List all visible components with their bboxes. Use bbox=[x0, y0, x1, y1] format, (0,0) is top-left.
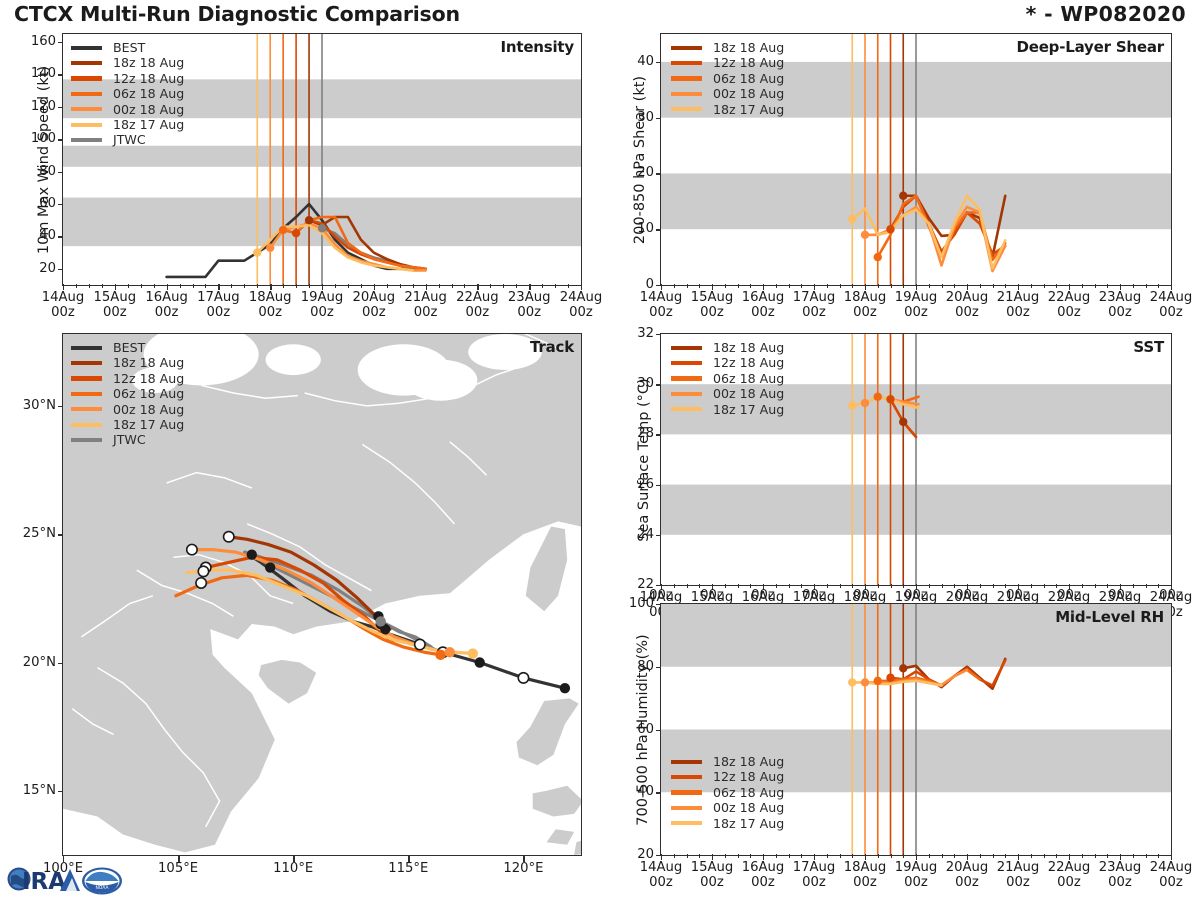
x-minor-tick bbox=[878, 584, 879, 588]
legend-label: 18z 17 Aug bbox=[113, 117, 184, 132]
x-minor-tick bbox=[776, 584, 777, 588]
x-minor-tick bbox=[801, 584, 802, 588]
x-minor-tick bbox=[954, 584, 955, 588]
legend-color-swatch bbox=[671, 376, 702, 380]
x-minor-tick bbox=[1146, 584, 1147, 588]
legend-label: 06z 18 Aug bbox=[113, 386, 184, 401]
legend-item: 00z 18 Aug bbox=[71, 402, 184, 417]
x-tick-mark bbox=[763, 284, 764, 290]
y-tick-label: 24 bbox=[612, 527, 654, 542]
track-marker-open bbox=[198, 566, 208, 576]
legend-color-swatch bbox=[71, 123, 102, 127]
x-minor-tick bbox=[725, 284, 726, 288]
legend-label: 00z 18 Aug bbox=[713, 800, 784, 815]
series-init-marker bbox=[848, 215, 856, 223]
panel-track[interactable]: Track BEST18z 18 Aug12z 18 Aug06z 18 Aug… bbox=[62, 333, 582, 856]
panel-rh[interactable]: Mid-Level RH 18z 18 Aug12z 18 Aug06z 18 … bbox=[660, 603, 1172, 856]
y-tick-mark bbox=[656, 604, 661, 605]
legend-label: 18z 18 Aug bbox=[713, 340, 784, 355]
x-minor-tick bbox=[776, 854, 777, 858]
legend-item: JTWC bbox=[71, 432, 184, 447]
legend-item: 12z 18 Aug bbox=[71, 71, 184, 86]
legend-item: 18z 18 Aug bbox=[671, 754, 784, 769]
legend-item: 06z 18 Aug bbox=[71, 386, 184, 401]
x-tick-mark bbox=[1018, 854, 1019, 860]
rh-legend: 18z 18 Aug12z 18 Aug06z 18 Aug00z 18 Aug… bbox=[671, 754, 784, 831]
x-minor-tick bbox=[840, 854, 841, 858]
cira-logo: IRA NOAA bbox=[4, 856, 126, 898]
x-minor-tick bbox=[1107, 284, 1108, 288]
legend-item: 18z 17 Aug bbox=[671, 102, 784, 117]
y-tick-label: 20 bbox=[612, 165, 654, 180]
x-tick-mark bbox=[1171, 284, 1172, 290]
x-minor-tick bbox=[1095, 284, 1096, 288]
legend-color-swatch bbox=[71, 107, 102, 111]
x-minor-tick bbox=[1158, 284, 1159, 288]
x-minor-tick bbox=[929, 854, 930, 858]
x-minor-tick bbox=[687, 284, 688, 288]
map-lon-label: 115°E bbox=[374, 861, 442, 876]
series-init-marker bbox=[886, 674, 894, 682]
figure-header: CTCX Multi-Run Diagnostic Comparison * -… bbox=[0, 2, 1200, 30]
x-tick-hour-label: 00z bbox=[945, 588, 989, 603]
x-tick-hour-label: 00z bbox=[741, 588, 785, 603]
x-tick-label: 24Aug00z bbox=[1139, 860, 1200, 890]
x-tick-hour-label: 00z bbox=[690, 588, 734, 603]
x-minor-tick bbox=[400, 284, 401, 288]
x-tick-mark bbox=[814, 854, 815, 860]
x-minor-tick bbox=[789, 284, 790, 288]
shear-legend: 18z 18 Aug12z 18 Aug06z 18 Aug00z 18 Aug… bbox=[671, 40, 784, 117]
x-tick-mark bbox=[1069, 854, 1070, 860]
series-init-marker bbox=[861, 231, 869, 239]
x-tick-mark bbox=[322, 284, 323, 290]
legend-label: 18z 17 Aug bbox=[113, 417, 184, 432]
x-minor-tick bbox=[180, 284, 181, 288]
y-tick-mark bbox=[656, 384, 661, 385]
x-minor-tick bbox=[687, 584, 688, 588]
map-lon-label: 120°E bbox=[489, 861, 557, 876]
map-lon-tick bbox=[293, 856, 294, 862]
x-minor-tick bbox=[980, 584, 981, 588]
series-init-marker bbox=[874, 393, 882, 401]
x-tick-label: 24Aug00z bbox=[1139, 290, 1200, 320]
map-lat-tick bbox=[58, 663, 63, 664]
x-minor-tick bbox=[840, 584, 841, 588]
x-minor-tick bbox=[1005, 584, 1006, 588]
y-tick-label: 40 bbox=[14, 228, 56, 243]
x-minor-tick bbox=[542, 284, 543, 288]
legend-item: 18z 18 Aug bbox=[71, 355, 184, 370]
x-tick-mark bbox=[115, 284, 116, 290]
x-minor-tick bbox=[102, 284, 103, 288]
x-minor-tick bbox=[387, 284, 388, 288]
x-minor-tick bbox=[852, 854, 853, 858]
x-minor-tick bbox=[699, 854, 700, 858]
x-minor-tick bbox=[942, 854, 943, 858]
x-tick-mark bbox=[477, 284, 478, 290]
x-minor-tick bbox=[878, 854, 879, 858]
x-minor-tick bbox=[464, 284, 465, 288]
map-lat-label: 25°N bbox=[0, 526, 56, 541]
track-panel-title: Track bbox=[530, 338, 574, 356]
x-minor-tick bbox=[725, 584, 726, 588]
x-minor-tick bbox=[1082, 284, 1083, 288]
y-tick-label: 20 bbox=[14, 261, 56, 276]
x-tick-mark bbox=[1171, 854, 1172, 860]
x-tick-mark bbox=[916, 284, 917, 290]
x-tick-mark bbox=[63, 284, 64, 290]
legend-label: 06z 18 Aug bbox=[713, 71, 784, 86]
y-tick-label: 60 bbox=[612, 722, 654, 737]
x-minor-tick bbox=[827, 854, 828, 858]
x-minor-tick bbox=[1146, 284, 1147, 288]
track-marker-open bbox=[224, 532, 234, 542]
x-tick-hour-label: 00z bbox=[894, 588, 938, 603]
y-tick-mark bbox=[58, 74, 63, 75]
legend-item: 12z 18 Aug bbox=[671, 55, 784, 70]
x-minor-tick bbox=[244, 284, 245, 288]
intensity-legend: BEST18z 18 Aug12z 18 Aug06z 18 Aug00z 18… bbox=[71, 40, 184, 148]
panel-shear[interactable]: Deep-Layer Shear 18z 18 Aug12z 18 Aug06z… bbox=[660, 33, 1172, 286]
y-tick-label: 40 bbox=[612, 784, 654, 799]
sst-legend: 18z 18 Aug12z 18 Aug06z 18 Aug00z 18 Aug… bbox=[671, 340, 784, 417]
x-minor-tick bbox=[231, 284, 232, 288]
track-marker-filled bbox=[265, 562, 275, 572]
x-minor-tick bbox=[89, 284, 90, 288]
y-tick-label: 30 bbox=[612, 376, 654, 391]
x-tick-hour-label: 00z bbox=[1149, 588, 1193, 603]
y-tick-mark bbox=[656, 62, 661, 63]
x-tick-mark bbox=[967, 854, 968, 860]
x-tick-mark bbox=[712, 284, 713, 290]
legend-item: 18z 17 Aug bbox=[71, 417, 184, 432]
map-lake bbox=[404, 360, 478, 401]
y-tick-label: 60 bbox=[14, 196, 56, 211]
track-marker-open bbox=[187, 544, 197, 554]
legend-label: 18z 18 Aug bbox=[113, 55, 184, 70]
legend-color-swatch bbox=[71, 392, 102, 396]
legend-color-swatch bbox=[671, 46, 702, 50]
legend-item: 12z 18 Aug bbox=[671, 355, 784, 370]
x-minor-tick bbox=[878, 284, 879, 288]
track-legend: BEST18z 18 Aug12z 18 Aug06z 18 Aug00z 18… bbox=[71, 340, 184, 448]
legend-color-swatch bbox=[671, 760, 702, 764]
panel-sst[interactable]: SST 18z 18 Aug12z 18 Aug06z 18 Aug00z 18… bbox=[660, 333, 1172, 586]
legend-label: 18z 17 Aug bbox=[713, 816, 784, 831]
track-marker-filled bbox=[247, 550, 257, 560]
x-minor-tick bbox=[1056, 584, 1057, 588]
x-tick-mark bbox=[1069, 284, 1070, 290]
x-minor-tick bbox=[1133, 584, 1134, 588]
x-minor-tick bbox=[1133, 854, 1134, 858]
legend-label: 12z 18 Aug bbox=[713, 55, 784, 70]
legend-label: 12z 18 Aug bbox=[113, 71, 184, 86]
legend-color-swatch bbox=[71, 376, 102, 380]
x-minor-tick bbox=[687, 854, 688, 858]
x-minor-tick bbox=[827, 284, 828, 288]
legend-item: BEST bbox=[71, 340, 184, 355]
x-minor-tick bbox=[750, 854, 751, 858]
x-minor-tick bbox=[1146, 854, 1147, 858]
x-tick-mark bbox=[661, 284, 662, 290]
legend-label: 00z 18 Aug bbox=[113, 402, 184, 417]
y-tick-mark bbox=[656, 535, 661, 536]
x-tick-hour-label: 00z bbox=[1047, 588, 1091, 603]
x-minor-tick bbox=[141, 284, 142, 288]
x-tick-mark bbox=[865, 854, 866, 860]
y-tick-label: 80 bbox=[612, 659, 654, 674]
x-tick-mark bbox=[661, 854, 662, 860]
legend-color-swatch bbox=[71, 138, 102, 142]
x-tick-mark bbox=[1018, 284, 1019, 290]
legend-color-swatch bbox=[71, 92, 102, 96]
x-minor-tick bbox=[257, 284, 258, 288]
legend-label: 18z 18 Aug bbox=[713, 40, 784, 55]
x-minor-tick bbox=[929, 284, 930, 288]
map-lat-tick bbox=[58, 406, 63, 407]
series-init-marker bbox=[279, 226, 287, 234]
x-minor-tick bbox=[776, 284, 777, 288]
x-minor-tick bbox=[801, 284, 802, 288]
x-minor-tick bbox=[750, 584, 751, 588]
x-minor-tick bbox=[725, 854, 726, 858]
y-tick-label: 32 bbox=[612, 326, 654, 341]
y-tick-mark bbox=[58, 204, 63, 205]
legend-label: 18z 18 Aug bbox=[713, 754, 784, 769]
y-tick-mark bbox=[656, 667, 661, 668]
legend-item: 18z 17 Aug bbox=[671, 816, 784, 831]
x-minor-tick bbox=[309, 284, 310, 288]
x-minor-tick bbox=[555, 284, 556, 288]
x-minor-tick bbox=[993, 284, 994, 288]
x-minor-tick bbox=[1044, 584, 1045, 588]
x-minor-tick bbox=[738, 284, 739, 288]
series-init-marker bbox=[899, 418, 907, 426]
x-tick-hour-label: 00z bbox=[792, 588, 836, 603]
x-minor-tick bbox=[490, 284, 491, 288]
legend-label: 06z 18 Aug bbox=[713, 785, 784, 800]
x-tick-label: 24Aug00z bbox=[549, 290, 613, 320]
legend-label: BEST bbox=[113, 40, 145, 55]
x-minor-tick bbox=[1158, 854, 1159, 858]
x-minor-tick bbox=[674, 584, 675, 588]
legend-label: 00z 18 Aug bbox=[713, 386, 784, 401]
track-marker-open bbox=[415, 639, 425, 649]
x-minor-tick bbox=[1031, 584, 1032, 588]
x-tick-mark bbox=[270, 284, 271, 290]
x-minor-tick bbox=[1082, 854, 1083, 858]
x-minor-tick bbox=[1107, 584, 1108, 588]
x-tick-mark bbox=[581, 284, 582, 290]
x-minor-tick bbox=[128, 284, 129, 288]
intensity-panel-title: Intensity bbox=[500, 38, 574, 56]
x-tick-mark bbox=[1120, 854, 1121, 860]
series-init-marker bbox=[292, 229, 300, 237]
x-minor-tick bbox=[296, 284, 297, 288]
x-minor-tick bbox=[1005, 284, 1006, 288]
series-init-marker bbox=[861, 399, 869, 407]
series-init-marker bbox=[848, 401, 856, 409]
x-minor-tick bbox=[335, 284, 336, 288]
legend-color-swatch bbox=[71, 46, 102, 50]
legend-label: 12z 18 Aug bbox=[713, 769, 784, 784]
x-minor-tick bbox=[1095, 584, 1096, 588]
x-minor-tick bbox=[568, 284, 569, 288]
x-minor-tick bbox=[801, 854, 802, 858]
legend-color-swatch bbox=[671, 61, 702, 65]
x-minor-tick bbox=[674, 854, 675, 858]
y-tick-label: 28 bbox=[612, 426, 654, 441]
track-marker-filled bbox=[475, 657, 485, 667]
x-minor-tick bbox=[154, 284, 155, 288]
storm-id-label: * - WP082020 bbox=[1026, 2, 1186, 26]
x-minor-tick bbox=[954, 284, 955, 288]
y-tick-label: 10 bbox=[612, 221, 654, 236]
x-minor-tick bbox=[750, 284, 751, 288]
x-minor-tick bbox=[1056, 284, 1057, 288]
series-init-marker bbox=[899, 192, 907, 200]
x-minor-tick bbox=[827, 584, 828, 588]
svg-text:NOAA: NOAA bbox=[95, 885, 109, 891]
legend-color-swatch bbox=[671, 407, 702, 411]
map-lon-tick bbox=[408, 856, 409, 862]
map-lon-label: 105°E bbox=[144, 861, 212, 876]
legend-color-swatch bbox=[671, 806, 702, 810]
x-minor-tick bbox=[503, 284, 504, 288]
x-minor-tick bbox=[1005, 854, 1006, 858]
x-minor-tick bbox=[76, 284, 77, 288]
series-init-marker bbox=[874, 253, 882, 261]
x-minor-tick bbox=[283, 284, 284, 288]
x-minor-tick bbox=[1107, 854, 1108, 858]
x-minor-tick bbox=[903, 284, 904, 288]
legend-color-swatch bbox=[671, 361, 702, 365]
map-lat-tick bbox=[58, 534, 63, 535]
legend-item: 18z 18 Aug bbox=[671, 40, 784, 55]
y-tick-mark bbox=[58, 236, 63, 237]
series-init-marker bbox=[899, 664, 907, 672]
legend-item: 06z 18 Aug bbox=[71, 86, 184, 101]
x-tick-mark bbox=[967, 284, 968, 290]
x-minor-tick bbox=[516, 284, 517, 288]
y-tick-label: 80 bbox=[14, 164, 56, 179]
legend-item: 18z 18 Aug bbox=[71, 55, 184, 70]
x-minor-tick bbox=[1158, 584, 1159, 588]
legend-item: 18z 17 Aug bbox=[671, 402, 784, 417]
map-lat-label: 30°N bbox=[0, 398, 56, 413]
x-minor-tick bbox=[1056, 854, 1057, 858]
series-init-marker bbox=[318, 224, 326, 232]
series-init-marker bbox=[848, 678, 856, 686]
legend-color-swatch bbox=[671, 346, 702, 350]
legend-color-swatch bbox=[671, 775, 702, 779]
legend-item: 06z 18 Aug bbox=[671, 371, 784, 386]
x-minor-tick bbox=[413, 284, 414, 288]
legend-item: 00z 18 Aug bbox=[671, 386, 784, 401]
y-tick-mark bbox=[656, 173, 661, 174]
x-minor-tick bbox=[980, 284, 981, 288]
map-lon-label: 110°E bbox=[259, 861, 327, 876]
y-tick-label: 40 bbox=[612, 54, 654, 69]
y-tick-mark bbox=[656, 792, 661, 793]
map-lat-tick bbox=[58, 791, 63, 792]
x-tick-mark bbox=[529, 284, 530, 290]
legend-item: 06z 18 Aug bbox=[671, 785, 784, 800]
panel-intensity[interactable]: Intensity BEST18z 18 Aug12z 18 Aug06z 18… bbox=[62, 33, 582, 286]
map-lon-tick bbox=[178, 856, 179, 862]
x-tick-hour-label: 00z bbox=[996, 588, 1040, 603]
series-init-marker bbox=[861, 678, 869, 686]
map-lake bbox=[266, 344, 321, 375]
legend-color-swatch bbox=[671, 107, 702, 111]
y-tick-label: 140 bbox=[14, 66, 56, 81]
y-tick-mark bbox=[58, 269, 63, 270]
x-minor-tick bbox=[1031, 854, 1032, 858]
legend-color-swatch bbox=[71, 361, 102, 365]
y-tick-mark bbox=[58, 139, 63, 140]
legend-color-swatch bbox=[671, 821, 702, 825]
rh-panel-title: Mid-Level RH bbox=[1055, 608, 1164, 626]
legend-label: 00z 18 Aug bbox=[113, 102, 184, 117]
x-tick-mark bbox=[374, 284, 375, 290]
legend-color-swatch bbox=[71, 407, 102, 411]
legend-item: 12z 18 Aug bbox=[671, 769, 784, 784]
x-minor-tick bbox=[699, 584, 700, 588]
track-marker-run bbox=[445, 647, 455, 657]
legend-label: 12z 18 Aug bbox=[113, 371, 184, 386]
x-minor-tick bbox=[439, 284, 440, 288]
x-minor-tick bbox=[1031, 284, 1032, 288]
y-tick-mark bbox=[656, 229, 661, 230]
legend-color-swatch bbox=[71, 346, 102, 350]
y-tick-label: 160 bbox=[14, 34, 56, 49]
y-tick-label: 100 bbox=[14, 131, 56, 146]
page-title: CTCX Multi-Run Diagnostic Comparison bbox=[14, 2, 460, 26]
y-tick-label: 120 bbox=[14, 99, 56, 114]
series-init-marker bbox=[886, 395, 894, 403]
x-minor-tick bbox=[674, 284, 675, 288]
y-tick-mark bbox=[656, 334, 661, 335]
y-tick-mark bbox=[58, 107, 63, 108]
x-tick-mark bbox=[814, 284, 815, 290]
x-minor-tick bbox=[903, 854, 904, 858]
x-minor-tick bbox=[852, 584, 853, 588]
x-minor-tick bbox=[348, 284, 349, 288]
y-tick-label: 26 bbox=[612, 477, 654, 492]
legend-label: 18z 18 Aug bbox=[113, 355, 184, 370]
x-minor-tick bbox=[993, 854, 994, 858]
x-minor-tick bbox=[929, 584, 930, 588]
y-tick-mark bbox=[58, 172, 63, 173]
x-tick-mark bbox=[916, 854, 917, 860]
svg-text:IRA: IRA bbox=[22, 869, 66, 895]
map-lat-label: 15°N bbox=[0, 783, 56, 798]
x-minor-tick bbox=[891, 284, 892, 288]
legend-item: JTWC bbox=[71, 132, 184, 147]
legend-item: 00z 18 Aug bbox=[671, 800, 784, 815]
series-init-marker bbox=[266, 244, 274, 252]
x-tick-mark bbox=[1120, 284, 1121, 290]
series-init-marker bbox=[305, 216, 313, 224]
x-tick-mark bbox=[426, 284, 427, 290]
track-marker-run bbox=[468, 648, 478, 658]
series-init-marker bbox=[253, 248, 261, 256]
legend-item: BEST bbox=[71, 40, 184, 55]
legend-color-swatch bbox=[671, 392, 702, 396]
x-minor-tick bbox=[1133, 284, 1134, 288]
legend-label: 18z 17 Aug bbox=[713, 402, 784, 417]
